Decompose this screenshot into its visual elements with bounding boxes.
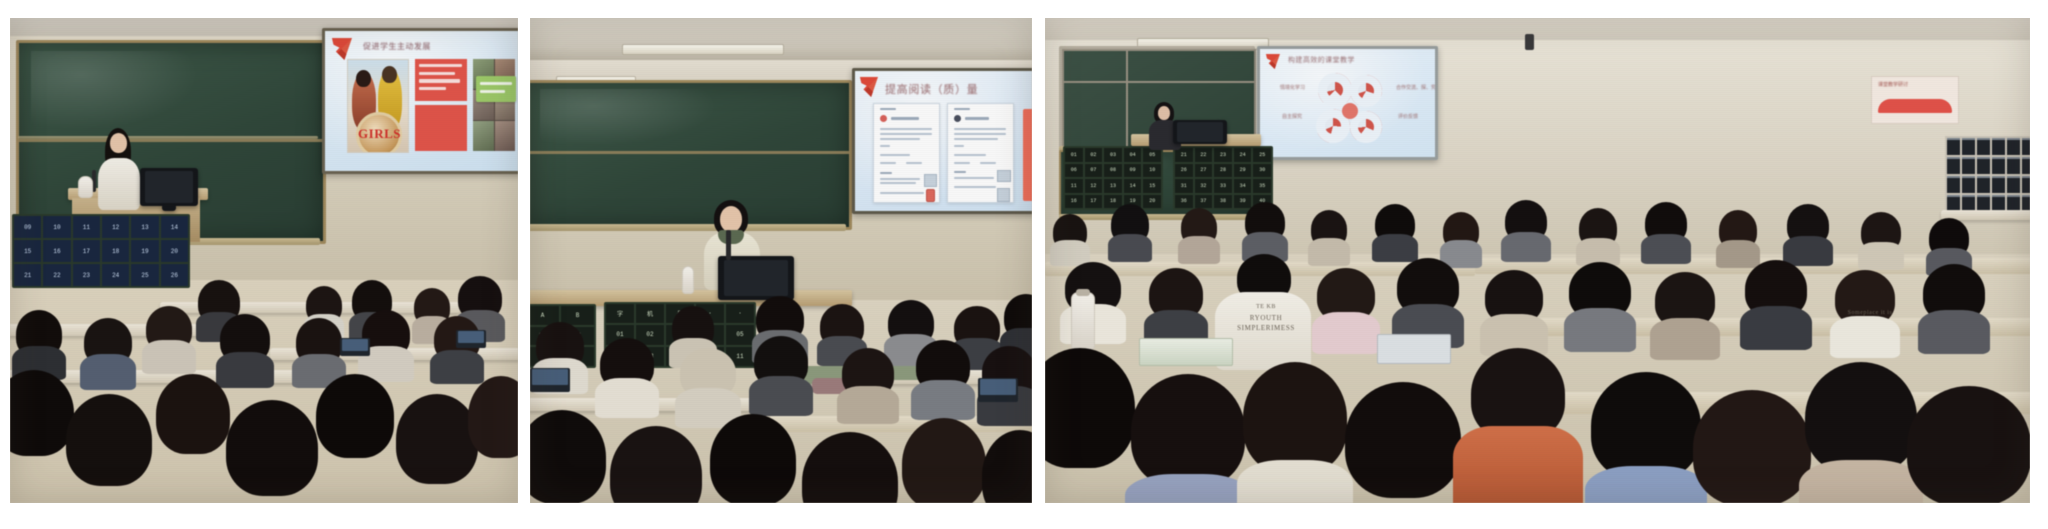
wall-sign [476,76,516,102]
podium-monitor [718,256,794,300]
hoodie-text-line-3: SIMPLERIMESS [1223,324,1309,332]
lecturer [96,128,142,198]
projector-screen-frame: 构建高效的课堂教学 情境化学习 自主探究 [1257,46,1438,160]
water-bottle [1071,292,1095,350]
seat-number-board-left: 0102030405 0607080910 1112131415 1617181… [1063,146,1163,210]
projected-slide: 提高阅读（质）量 [855,71,1032,211]
slide-document-left [873,103,940,203]
lecture-hall-photo-center: 提高阅读（质）量 [530,18,1032,503]
shirt-text: Someplace it is [1837,310,1903,316]
seat-number-board: 091011121314 151617181920 212223242526 [12,214,190,288]
triptych-stage: 促进学生主动发展 GIRLS [0,0,2048,529]
diagram-label-right-top: 合作交流、探、究 [1396,84,1435,91]
books-on-desk [1139,338,1233,366]
ceiling-sensor-icon [1525,34,1534,50]
tablet-on-desk [1377,334,1451,364]
seat-number-board-right: 2122232425 2627282930 3132333435 3637383… [1173,146,1273,210]
diagram-label-left-bottom: 自主探究 [1282,113,1302,120]
wall-poster-text: 课堂教学研讨 [1878,81,1908,88]
podium-monitor [1173,120,1227,144]
slide-red-text-block [415,59,467,101]
slide-red-block-lower [415,105,467,151]
poster-word: GIRLS [358,126,401,142]
slide-title: 提高阅读（质）量 [885,81,978,97]
hoodie-text-line-2: RYOUTH [1227,314,1305,322]
podium-monitor [140,168,198,206]
projector-screen-frame: 提高阅读（质）量 [852,68,1032,214]
hoodie-text-line-1: TE KB [1227,304,1305,310]
projected-slide: 构建高效的课堂教学 情境化学习 自主探究 [1260,49,1435,157]
slide-title: 构建高效的课堂教学 [1288,55,1355,65]
storage-cubbies [1945,136,2030,214]
blackboard [530,80,852,230]
lecture-hall-photo-right: 构建高效的课堂教学 情境化学习 自主探究 [1045,18,2030,503]
student-orange-jacket [1453,348,1583,503]
ceiling-light [622,44,784,55]
slide-photo-grid [473,59,515,151]
slide-red-panel [1023,109,1032,201]
diagram-label-right-bottom: 评价反馈 [1398,113,1418,120]
slide-poster-image: GIRLS [347,59,409,153]
lecture-hall-photo-left: 促进学生主动发展 GIRLS [10,18,518,503]
diagram-label-left-top: 情境化学习 [1280,84,1305,91]
slide-title: 促进学生主动发展 [363,41,431,52]
microphone [726,230,731,260]
slide-circular-diagram [1312,73,1390,147]
slide-document-right [947,103,1014,203]
wall-poster: 课堂教学研讨 [1871,76,1959,124]
